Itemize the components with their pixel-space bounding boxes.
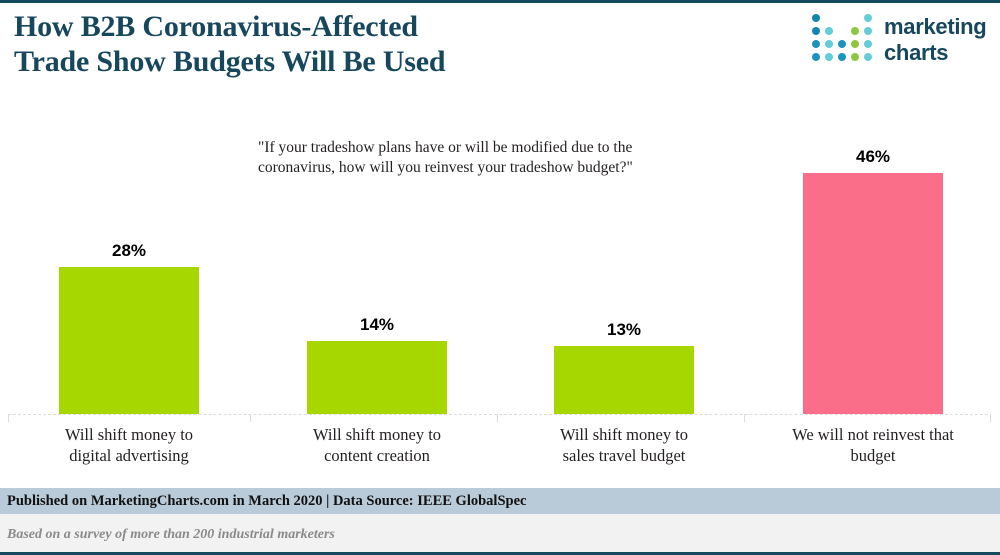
axis-tick xyxy=(497,414,498,422)
logo-dot xyxy=(825,53,833,61)
logo-dot xyxy=(812,27,820,35)
logo-dot xyxy=(864,53,872,61)
axis-tick xyxy=(250,414,251,422)
logo-dot xyxy=(812,40,820,48)
logo-dot xyxy=(838,53,846,61)
x-axis-line xyxy=(8,414,988,415)
logo-dot xyxy=(851,27,859,35)
logo-dot xyxy=(864,40,872,48)
chart-header: How B2B Coronavirus-Affected Trade Show … xyxy=(0,3,1000,89)
bar[interactable] xyxy=(554,346,694,414)
axis-tick xyxy=(8,414,9,422)
axis-tick xyxy=(744,414,745,422)
bar-value-label: 46% xyxy=(856,147,890,167)
brand-logo: marketing charts xyxy=(812,14,992,70)
category-label: Will shift money to sales travel budget xyxy=(504,424,744,466)
brand-wordmark: marketing charts xyxy=(884,14,986,66)
logo-dot xyxy=(851,40,859,48)
chart-page: How B2B Coronavirus-Affected Trade Show … xyxy=(0,0,1000,555)
logo-dot xyxy=(851,53,859,61)
category-label: Will shift money to content creation xyxy=(257,424,497,466)
bar[interactable] xyxy=(59,267,199,414)
logo-dot xyxy=(825,40,833,48)
bar-value-label: 13% xyxy=(607,320,641,340)
category-label: We will not reinvest that budget xyxy=(753,424,993,466)
category-label: Will shift money to digital advertising xyxy=(9,424,249,466)
logo-dot xyxy=(812,14,820,22)
bar-value-label: 14% xyxy=(360,315,394,335)
logo-dot xyxy=(864,27,872,35)
logo-dot xyxy=(838,40,846,48)
footer-note-band: Based on a survey of more than 200 indus… xyxy=(0,514,1000,555)
logo-dot xyxy=(825,27,833,35)
bar[interactable] xyxy=(803,173,943,414)
chart-subtitle: "If your tradeshow plans have or will be… xyxy=(258,138,738,178)
page-title: How B2B Coronavirus-Affected Trade Show … xyxy=(14,9,774,79)
axis-tick xyxy=(990,414,991,422)
logo-dot xyxy=(812,53,820,61)
footer-source-text: Published on MarketingCharts.com in Marc… xyxy=(0,493,526,510)
bar[interactable] xyxy=(307,341,447,414)
footer-source-band: Published on MarketingCharts.com in Marc… xyxy=(0,488,1000,514)
marketing-charts-dot-logo-icon xyxy=(812,14,874,66)
footer-note-text: Based on a survey of more than 200 indus… xyxy=(0,527,335,543)
logo-dot xyxy=(864,14,872,22)
bar-value-label: 28% xyxy=(112,241,146,261)
plot-area: "If your tradeshow plans have or will be… xyxy=(0,89,1000,474)
